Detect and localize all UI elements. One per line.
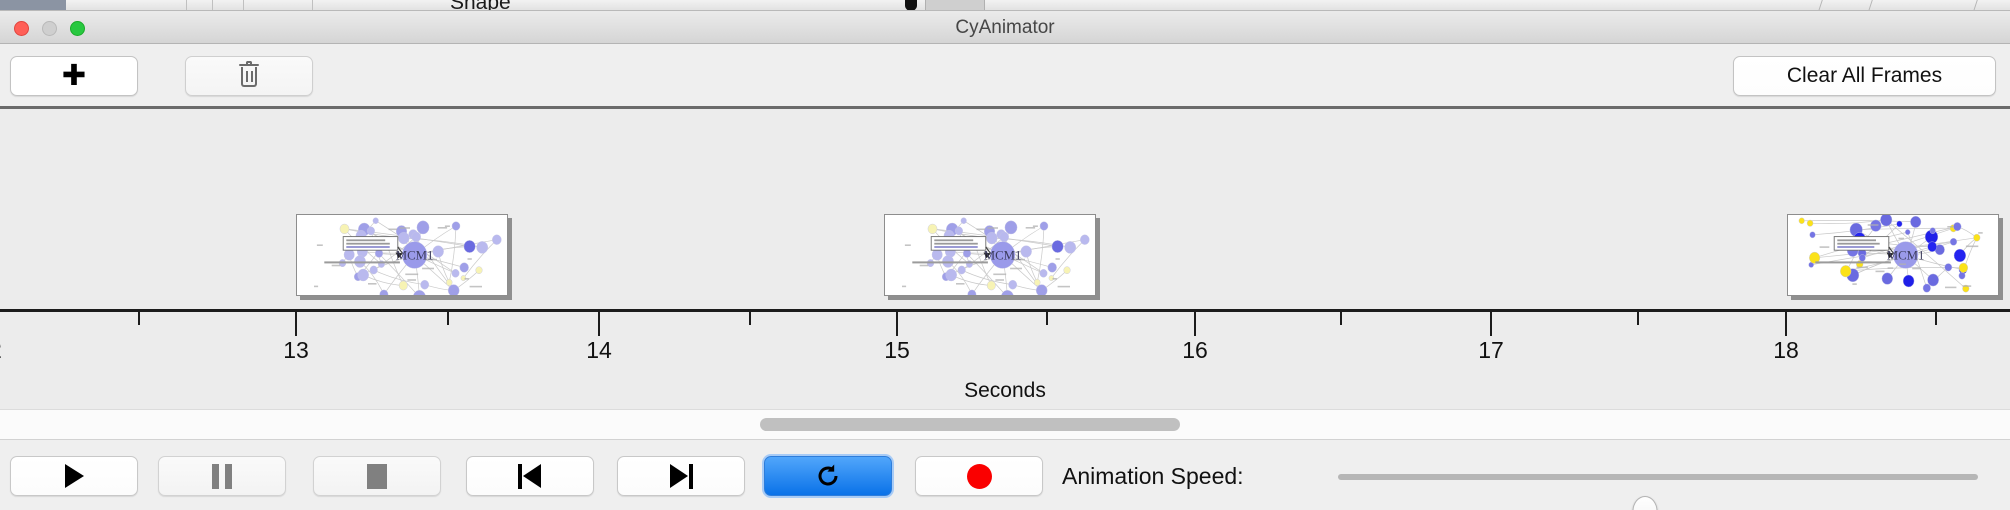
axis-tick bbox=[1637, 312, 1639, 325]
axis-tick bbox=[749, 312, 751, 325]
axis-tick bbox=[447, 312, 449, 325]
svg-text:MCM1: MCM1 bbox=[984, 248, 1022, 262]
cyanimator-window: Shape CyAnimator ✚ Clear All Frames MCM1… bbox=[0, 0, 2010, 510]
axis-tick-label: 17 bbox=[1478, 337, 1504, 364]
pause-icon bbox=[212, 464, 232, 489]
animation-speed-label: Animation Speed: bbox=[1062, 456, 1244, 496]
axis-tick-label: 18 bbox=[1773, 337, 1799, 364]
next-frame-button[interactable] bbox=[617, 456, 745, 496]
pause-button[interactable] bbox=[158, 456, 286, 496]
previous-frame-button[interactable] bbox=[466, 456, 594, 496]
axis-tick-label: 16 bbox=[1182, 337, 1208, 364]
axis-tick bbox=[1785, 312, 1787, 336]
skip-next-icon bbox=[669, 464, 693, 489]
axis-tick bbox=[896, 312, 898, 336]
play-icon bbox=[65, 464, 84, 488]
clear-all-frames-label: Clear All Frames bbox=[1787, 64, 1942, 88]
svg-text:MCM1: MCM1 bbox=[396, 248, 434, 262]
timeline-panel[interactable]: MCM1MCM1MCM1 12131415161718 Seconds bbox=[0, 109, 2010, 409]
scrollbar-thumb[interactable] bbox=[760, 418, 1180, 431]
trash-icon bbox=[239, 64, 259, 88]
background-tab bbox=[925, 0, 985, 11]
background-divider bbox=[312, 0, 313, 11]
skip-previous-icon bbox=[518, 464, 542, 489]
frame-thumbnail-3[interactable]: MCM1 bbox=[1787, 214, 1999, 296]
background-divider bbox=[243, 0, 244, 11]
axis-tick bbox=[1194, 312, 1196, 336]
frame-thumbnail-1[interactable]: MCM1 bbox=[296, 214, 508, 296]
axis-tick-label: 13 bbox=[283, 337, 309, 364]
background-marker bbox=[905, 0, 917, 11]
timeline-axis bbox=[0, 309, 2010, 312]
animation-speed-slider[interactable] bbox=[1338, 474, 1978, 480]
delete-frame-button[interactable] bbox=[185, 56, 313, 96]
animation-speed-slider-thumb[interactable] bbox=[1633, 496, 1658, 510]
title-bar[interactable]: CyAnimator bbox=[0, 11, 2010, 44]
axis-tick-label: 15 bbox=[884, 337, 910, 364]
record-icon bbox=[967, 464, 992, 489]
background-window-strip: Shape bbox=[0, 0, 2010, 11]
background-divider bbox=[212, 0, 213, 11]
axis-tick bbox=[1340, 312, 1342, 325]
background-divider bbox=[1818, 0, 1823, 11]
clear-all-frames-button[interactable]: Clear All Frames bbox=[1733, 56, 1996, 96]
toolbar: ✚ Clear All Frames bbox=[0, 44, 2010, 108]
axis-tick bbox=[1046, 312, 1048, 325]
background-divider bbox=[1868, 0, 1873, 11]
frame-thumbnail-2[interactable]: MCM1 bbox=[884, 214, 1096, 296]
add-frame-button[interactable]: ✚ bbox=[10, 56, 138, 96]
stop-icon bbox=[367, 464, 387, 489]
stop-button[interactable] bbox=[313, 456, 441, 496]
axis-tick bbox=[295, 312, 297, 336]
axis-tick bbox=[1490, 312, 1492, 336]
axis-title: Seconds bbox=[0, 379, 2010, 403]
horizontal-scrollbar[interactable] bbox=[0, 409, 2010, 439]
svg-text:MCM1: MCM1 bbox=[1887, 248, 1925, 262]
axis-tick-label: 14 bbox=[586, 337, 612, 364]
plus-icon: ✚ bbox=[62, 62, 86, 91]
playback-control-bar: Animation Speed: bbox=[0, 439, 2010, 510]
background-window-text: Shape bbox=[450, 0, 511, 11]
loop-button[interactable] bbox=[764, 456, 892, 496]
axis-tick bbox=[138, 312, 140, 325]
background-selection-block bbox=[0, 0, 66, 11]
axis-tick bbox=[598, 312, 600, 336]
axis-tick-label: 12 bbox=[0, 337, 2, 364]
background-divider bbox=[1973, 0, 1978, 11]
axis-tick bbox=[1935, 312, 1937, 325]
loop-icon bbox=[815, 463, 841, 489]
background-divider bbox=[186, 0, 187, 11]
window-title: CyAnimator bbox=[0, 11, 2010, 44]
play-button[interactable] bbox=[10, 456, 138, 496]
record-button[interactable] bbox=[915, 456, 1043, 496]
